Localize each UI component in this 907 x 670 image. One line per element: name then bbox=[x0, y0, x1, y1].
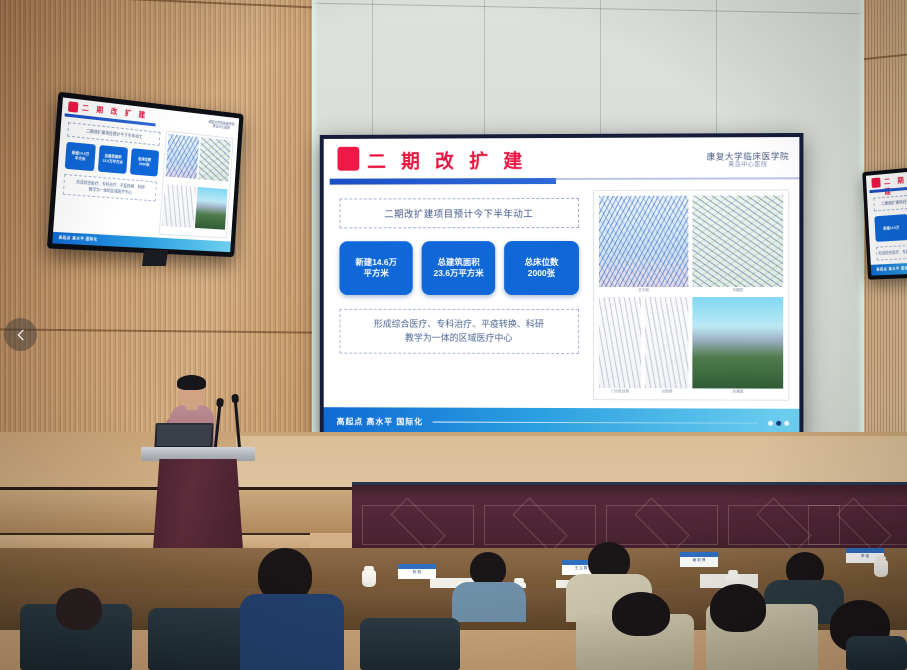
footer-hairline bbox=[433, 421, 758, 423]
rendering-thumb: 住院楼 bbox=[646, 297, 689, 394]
rendering-caption: 门诊医技楼 bbox=[599, 389, 642, 394]
rendering-thumb: 鸟瞰图 bbox=[693, 195, 784, 293]
attendee-shoulders bbox=[452, 582, 526, 622]
audience-chair bbox=[846, 636, 907, 670]
red-square-marker bbox=[338, 147, 360, 171]
rendering-thumb bbox=[161, 184, 195, 234]
rendering-thumb: 门诊医技楼 bbox=[599, 297, 642, 394]
kpi-line-2: 平方米 bbox=[364, 268, 389, 279]
attendee-head bbox=[56, 588, 102, 630]
mini-kpi-row: 新建14.6万 平方米 总建筑面积 23.6万平方米 总床位数 2000张 bbox=[65, 142, 159, 177]
summary-line-2: 教学为一体的区域医疗中心 bbox=[343, 331, 574, 346]
mini-slide: 二 期 改 扩 建 康复大学临床医学院 青岛中心医院 二期改扩建项目预计今下半年… bbox=[52, 97, 239, 252]
main-projection-screen: 二 期 改 扩 建 康复大学临床医学院 青岛中心医院 二期改扩建项目预计今下半年… bbox=[320, 133, 804, 441]
mini-left-column: 二期改扩建项目预计今下半年动工 新建14.6万 平方米 总建筑面积 23.6万平… bbox=[53, 117, 164, 237]
teacup bbox=[362, 570, 376, 587]
slide-body: 二期改扩建项目预计今下半年动工 新建14.6万 平方米 总建筑面积 23.6万平… bbox=[324, 183, 800, 408]
site-plan-image bbox=[599, 196, 689, 287]
rendering-thumb bbox=[198, 137, 231, 187]
podium-top-surface bbox=[141, 447, 255, 461]
slide-left-column: 二期改扩建项目预计今下半年动工 新建14.6万 平方米 总建筑面积 23.6万平… bbox=[324, 184, 589, 408]
slide-headline: 二期改扩建项目预计今下半年动工 bbox=[340, 198, 579, 228]
name-placard: 姜 前 博 bbox=[680, 552, 718, 567]
kpi-card: 新建14.6万 平方米 bbox=[340, 241, 413, 295]
mini-footer-slogan: 高起点 高水平 国际化 bbox=[58, 235, 97, 242]
mini-summary: 形成综合医疗、专科治疗、平疫转换、科研 教学为一体的区域医疗中心 bbox=[63, 174, 157, 202]
mini-kpi-card: 总床位数 2000张 bbox=[130, 148, 159, 176]
slide-footer-slogan: 高起点 高水平 国际化 bbox=[337, 416, 424, 427]
rendering-thumb bbox=[165, 134, 199, 185]
elevation-drawing-image bbox=[599, 297, 642, 388]
mini-left-column: 二期改扩建项目预计今下半年动工 新建14.6万 总建筑面积 形成综合医疗、专科治… bbox=[867, 188, 907, 265]
wainscot-panel bbox=[606, 505, 718, 545]
rendering-caption: 鸟瞰图 bbox=[693, 288, 784, 293]
summary-line-1: 形成综合医疗、专科治疗、平疫转换、科研 bbox=[878, 247, 907, 257]
mini-slide-body: 二期改扩建项目预计今下半年动工 新建14.6万 总建筑面积 形成综合医疗、专科治… bbox=[867, 188, 907, 265]
left-monitor-screen: 二 期 改 扩 建 康复大学临床医学院 青岛中心医院 二期改扩建项目预计今下半年… bbox=[52, 97, 239, 252]
red-square-marker bbox=[871, 177, 880, 188]
floorplan-drawing-image bbox=[646, 297, 689, 388]
elevation-drawing-image bbox=[162, 184, 196, 228]
site-plan-image bbox=[165, 134, 199, 179]
mini-kpi-card: 新建14.6万 bbox=[874, 214, 907, 242]
mini-kpi-row: 新建14.6万 总建筑面积 bbox=[874, 211, 907, 242]
mini-slide: 二 期 改 扩 建 二期改扩建项目预计今下半年动工 新建14.6万 总建筑面积 bbox=[866, 168, 907, 275]
mini-kpi-card: 总建筑面积 23.6万平方米 bbox=[98, 145, 128, 174]
wainscot-panel bbox=[808, 505, 907, 545]
summary-line-1: 形成综合医疗、专科治疗、平疫转换、科研 bbox=[343, 317, 574, 332]
kpi-line-1: 新建14.6万 bbox=[355, 257, 397, 268]
institution-logo: 康复大学临床医学院 青岛中心医院 bbox=[707, 151, 790, 170]
audience-chair bbox=[360, 618, 460, 670]
mini-right-column bbox=[156, 128, 237, 241]
slide-page-dots bbox=[768, 420, 789, 425]
right-monitor-screen: 二 期 改 扩 建 二期改扩建项目预计今下半年动工 新建14.6万 总建筑面积 bbox=[866, 168, 907, 275]
rendering-caption: 效果图 bbox=[693, 389, 784, 394]
kpi-line-2: 2000张 bbox=[139, 162, 150, 168]
exterior-render-image bbox=[693, 297, 784, 389]
chevron-left-icon bbox=[13, 327, 29, 343]
rendering-subrow: 门诊医技楼 住院楼 bbox=[599, 297, 689, 394]
carousel-prev-button[interactable] bbox=[4, 318, 37, 351]
laptop-screen bbox=[156, 425, 211, 446]
slide-title: 二 期 改 扩 建 bbox=[367, 146, 527, 173]
kpi-line-2: 2000张 bbox=[528, 268, 555, 279]
kpi-row: 新建14.6万 平方米 总建筑面积 23.6万平方米 总床位数 2000张 bbox=[340, 241, 579, 295]
slide-summary: 形成综合医疗、专科治疗、平疫转换、科研 教学为一体的区域医疗中心 bbox=[340, 309, 579, 354]
kpi-line-1: 总床位数 bbox=[525, 257, 559, 268]
mini-footer-slogan: 高起点 高水平 国际化 bbox=[876, 266, 907, 273]
microphone-head bbox=[216, 398, 224, 408]
rendering-grid: 总平面 鸟瞰图 门诊医技楼 bbox=[593, 189, 790, 400]
page-dot bbox=[768, 420, 773, 425]
aerial-view-image bbox=[693, 195, 784, 287]
rendering-thumb bbox=[194, 186, 227, 235]
conference-hall-photo: 二 期 改 扩 建 康复大学临床医学院 青岛中心医院 二期改扩建项目预计今下半年… bbox=[0, 0, 907, 670]
kpi-card: 总建筑面积 23.6万平方米 bbox=[422, 241, 496, 295]
kpi-line-2: 23.6万平方米 bbox=[434, 268, 484, 279]
slide-header: 二 期 改 扩 建 康复大学临床医学院 青岛中心医院 bbox=[324, 137, 800, 179]
aerial-view-image bbox=[198, 137, 231, 181]
kpi-line-2: 平方米 bbox=[75, 156, 86, 162]
slide-right-column: 总平面 鸟瞰图 门诊医技楼 bbox=[589, 183, 800, 408]
wainscot-panel bbox=[484, 505, 596, 545]
mini-summary: 形成综合医疗、专科治疗、平疫转换、科研 bbox=[876, 243, 907, 261]
mini-headline: 二期改扩建项目预计今下半年动工 bbox=[873, 192, 907, 211]
slide-content: 二 期 改 扩 建 康复大学临床医学院 青岛中心医院 二期改扩建项目预计今下半年… bbox=[324, 137, 800, 437]
rendering-caption: 住院楼 bbox=[646, 389, 689, 394]
logo-line-2: 青岛中心医院 bbox=[707, 162, 790, 170]
name-placard: 陈 刚 bbox=[398, 564, 436, 579]
kpi-card: 总床位数 2000张 bbox=[505, 241, 579, 295]
left-monitor-mount bbox=[142, 250, 168, 266]
exterior-render-image bbox=[195, 186, 228, 229]
teacup bbox=[874, 560, 888, 577]
page-dot-active bbox=[776, 420, 781, 425]
mini-kpi-card: 新建14.6万 平方米 bbox=[65, 142, 96, 171]
mini-rendering-grid bbox=[158, 131, 233, 239]
mini-institution-logo: 康复大学临床医学院 青岛中心医院 bbox=[208, 120, 234, 131]
microphone-head bbox=[231, 394, 239, 404]
rendering-thumb: 效果图 bbox=[693, 297, 784, 395]
attendee-shoulders bbox=[240, 594, 344, 670]
mini-slide-header: 二 期 改 扩 建 bbox=[866, 168, 907, 190]
left-confidence-monitor: 二 期 改 扩 建 康复大学临床医学院 青岛中心医院 二期改扩建项目预计今下半年… bbox=[47, 92, 244, 258]
logo-line-1: 康复大学临床医学院 bbox=[707, 151, 790, 162]
kpi-line-2: 23.6万平方米 bbox=[102, 159, 123, 166]
mini-slide-body: 二期改扩建项目预计今下半年动工 新建14.6万 平方米 总建筑面积 23.6万平… bbox=[53, 117, 238, 241]
page-dot bbox=[784, 420, 789, 425]
right-confidence-monitor: 二 期 改 扩 建 二期改扩建项目预计今下半年动工 新建14.6万 总建筑面积 bbox=[862, 164, 907, 280]
kpi-line-1: 新建14.6万 bbox=[883, 225, 899, 231]
kpi-line-1: 总建筑面积 bbox=[438, 257, 480, 268]
speaker-hair bbox=[177, 375, 206, 390]
attendee-head bbox=[470, 552, 506, 586]
attendee-head bbox=[612, 592, 670, 636]
red-square-marker bbox=[68, 101, 79, 112]
wainscot-panel bbox=[362, 505, 474, 545]
rendering-caption: 总平面 bbox=[599, 288, 689, 293]
podium-laptop bbox=[154, 423, 213, 449]
attendee-head bbox=[710, 584, 766, 632]
rendering-thumb: 总平面 bbox=[599, 196, 689, 293]
